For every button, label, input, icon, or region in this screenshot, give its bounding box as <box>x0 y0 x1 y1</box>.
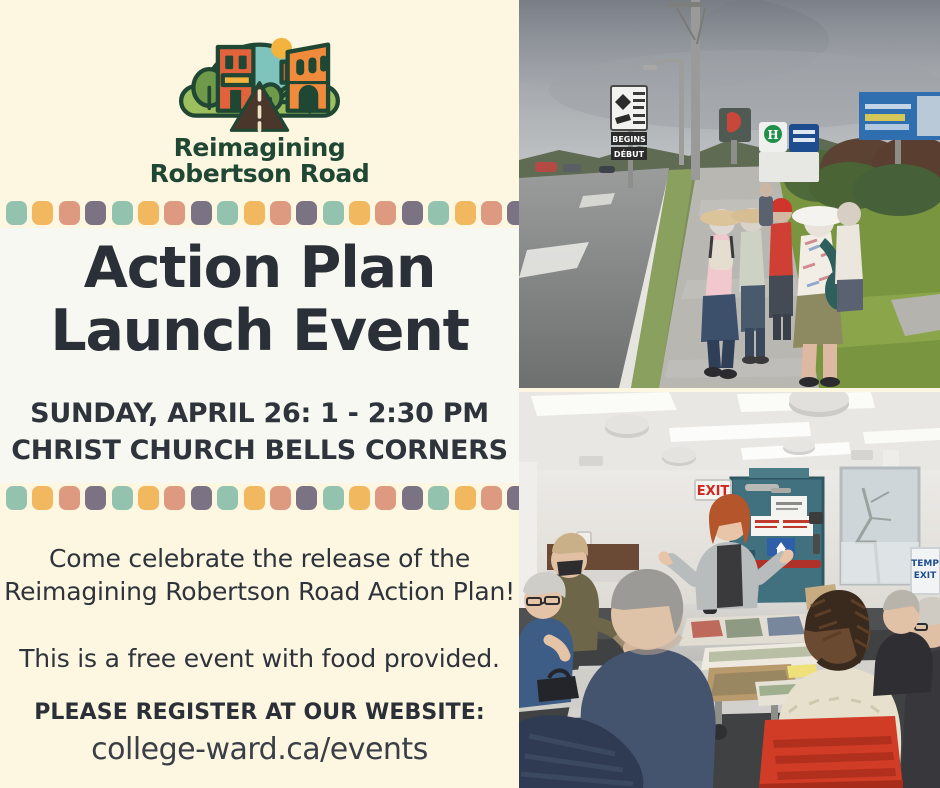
dot-swatch <box>6 201 27 225</box>
dot-swatch <box>191 486 212 510</box>
page-title-line2: Launch Event <box>0 300 519 363</box>
dot-swatch <box>323 486 344 510</box>
dot-swatch <box>138 201 159 225</box>
dot-swatch <box>217 486 238 510</box>
description-line1: Come celebrate the release of the <box>0 542 519 575</box>
page-title: Action Plan Launch Event <box>0 237 519 362</box>
logo: Reimagining Robertson Road <box>0 14 519 194</box>
dot-swatch <box>375 486 396 510</box>
dot-swatch <box>164 486 185 510</box>
dot-swatch <box>6 486 27 510</box>
registration-cta: PLEASE REGISTER AT OUR WEBSITE: college-… <box>0 700 519 767</box>
dot-swatch <box>32 201 53 225</box>
svg-text:EXIT: EXIT <box>914 571 937 581</box>
event-description: Come celebrate the release of the Reimag… <box>0 542 519 675</box>
logo-wordmark-line1: Reimagining <box>150 135 370 161</box>
event-poster: Reimagining Robertson Road Action Plan L… <box>0 0 940 788</box>
dot-swatch <box>270 201 291 225</box>
dot-swatch <box>59 486 80 510</box>
dot-swatch <box>402 201 423 225</box>
event-details: SUNDAY, APRIL 26: 1 - 2:30 PM CHRIST CHU… <box>0 396 519 469</box>
photo-community-workshop: EXIT TEMP EXIT <box>519 392 940 788</box>
description-line2: Reimagining Robertson Road Action Plan! <box>0 575 519 608</box>
decorative-dot-bar-bottom <box>6 485 514 511</box>
dot-swatch <box>481 486 502 510</box>
dot-swatch <box>428 486 449 510</box>
poster-left-column: Reimagining Robertson Road Action Plan L… <box>0 0 519 788</box>
logo-wordmark: Reimagining Robertson Road <box>150 135 370 187</box>
decorative-dot-bar-top <box>6 200 514 226</box>
dot-swatch <box>455 201 476 225</box>
dot-swatch <box>455 486 476 510</box>
page-title-line1: Action Plan <box>0 237 519 300</box>
dot-swatch <box>270 486 291 510</box>
dot-swatch <box>32 486 53 510</box>
dot-swatch <box>296 486 317 510</box>
dot-swatch <box>191 201 212 225</box>
dot-swatch <box>402 486 423 510</box>
event-datetime: SUNDAY, APRIL 26: 1 - 2:30 PM <box>0 396 519 433</box>
photo-walking-tour-robertson-road: BEGINS DÉBUT H <box>519 0 940 388</box>
dot-swatch <box>481 201 502 225</box>
dot-swatch <box>349 486 370 510</box>
reimagining-robertson-road-logo-icon <box>167 14 352 134</box>
svg-text:H: H <box>767 128 778 142</box>
dot-swatch <box>217 201 238 225</box>
dot-swatch <box>375 201 396 225</box>
logo-wordmark-line2: Robertson Road <box>150 161 370 187</box>
dot-swatch <box>349 201 370 225</box>
svg-text:TEMP: TEMP <box>911 559 939 569</box>
dot-swatch <box>138 486 159 510</box>
dot-swatch <box>85 201 106 225</box>
dot-swatch <box>112 486 133 510</box>
dot-swatch <box>112 201 133 225</box>
dot-swatch <box>296 201 317 225</box>
dot-swatch <box>428 201 449 225</box>
dot-swatch <box>59 201 80 225</box>
svg-text:BEGINS: BEGINS <box>612 135 646 144</box>
dot-swatch <box>164 201 185 225</box>
svg-text:DÉBUT: DÉBUT <box>614 148 645 159</box>
dot-swatch <box>244 201 265 225</box>
dot-swatch <box>85 486 106 510</box>
registration-label: PLEASE REGISTER AT OUR WEBSITE: <box>0 700 519 725</box>
poster-photo-column: BEGINS DÉBUT H <box>519 0 940 788</box>
dot-swatch <box>323 201 344 225</box>
walking-tour-illustration: BEGINS DÉBUT H <box>519 0 940 388</box>
community-workshop-illustration: EXIT TEMP EXIT <box>519 392 940 788</box>
registration-url[interactable]: college-ward.ca/events <box>0 732 519 767</box>
description-free-event: This is a free event with food provided. <box>0 642 519 675</box>
dot-swatch <box>244 486 265 510</box>
event-location: CHRIST CHURCH BELLS CORNERS <box>0 433 519 470</box>
